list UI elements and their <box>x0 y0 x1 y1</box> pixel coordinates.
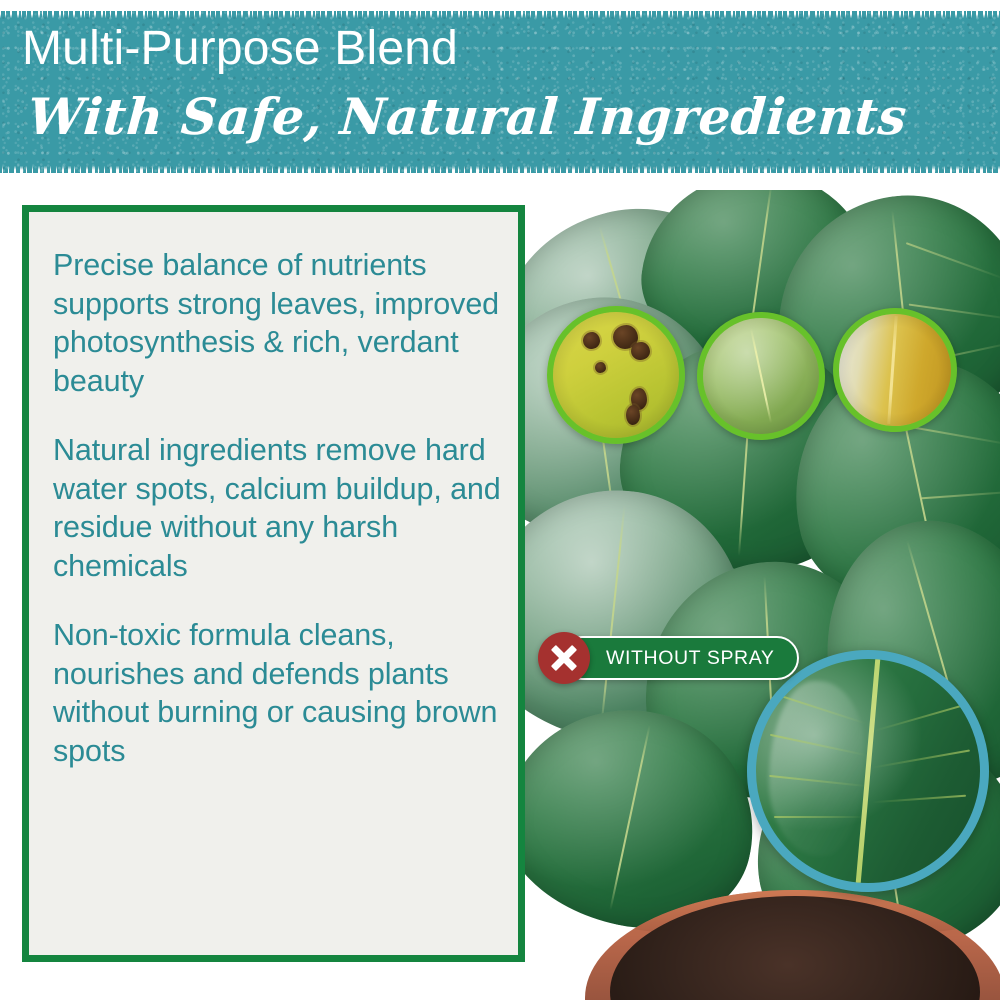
benefit-paragraph-1: Precise balance of nutrients supports st… <box>53 246 504 401</box>
leaf-vein <box>601 505 626 724</box>
x-glyph <box>549 643 579 673</box>
banner-top-edge <box>0 11 1000 19</box>
benefits-list: Precise balance of nutrients supports st… <box>53 246 504 771</box>
leaf-rib <box>874 704 965 732</box>
benefit-paragraph-3: Non-toxic formula cleans, nourishes and … <box>53 616 504 771</box>
leaf-vein-side <box>906 242 1000 280</box>
benefit-paragraph-2: Natural ingredients remove hard water sp… <box>53 431 504 586</box>
leaf-rib <box>873 749 970 768</box>
benefits-panel: Precise balance of nutrients supports st… <box>22 205 525 962</box>
magnifier-shading <box>553 312 679 438</box>
leaf-vein-side <box>921 490 1000 499</box>
infographic-root: Multi-Purpose Blend With Safe, Natural I… <box>0 0 1000 1000</box>
headline-secondary: With Safe, Natural Ingredients <box>26 92 908 142</box>
leaf-rib <box>774 816 864 818</box>
magnifier-dull-leaf <box>697 312 825 440</box>
leaf-vein-side <box>909 426 1000 446</box>
headline-primary: Multi-Purpose Blend <box>22 25 458 73</box>
leaf-vein <box>609 725 650 910</box>
badge-without-spray: WITHOUT SPRAY <box>538 636 799 680</box>
banner-bottom-edge <box>0 165 1000 173</box>
magnifier-brown-spots <box>547 306 685 444</box>
magnifier-shading <box>703 318 819 434</box>
badge-without-spray-label: WITHOUT SPRAY <box>606 647 775 670</box>
plant-photo: WITHOUT SPRAY AFTER USING SPRAY <box>525 190 1000 1000</box>
magnifier-shading <box>839 314 951 426</box>
leaf-rib <box>873 795 967 804</box>
terracotta-pot <box>585 890 1000 1000</box>
magnifier-healthy-leaf <box>747 650 989 892</box>
magnifier-yellowing-leaf <box>833 308 957 432</box>
cross-icon <box>538 632 590 684</box>
badge-without-spray-pill: WITHOUT SPRAY <box>560 636 799 680</box>
